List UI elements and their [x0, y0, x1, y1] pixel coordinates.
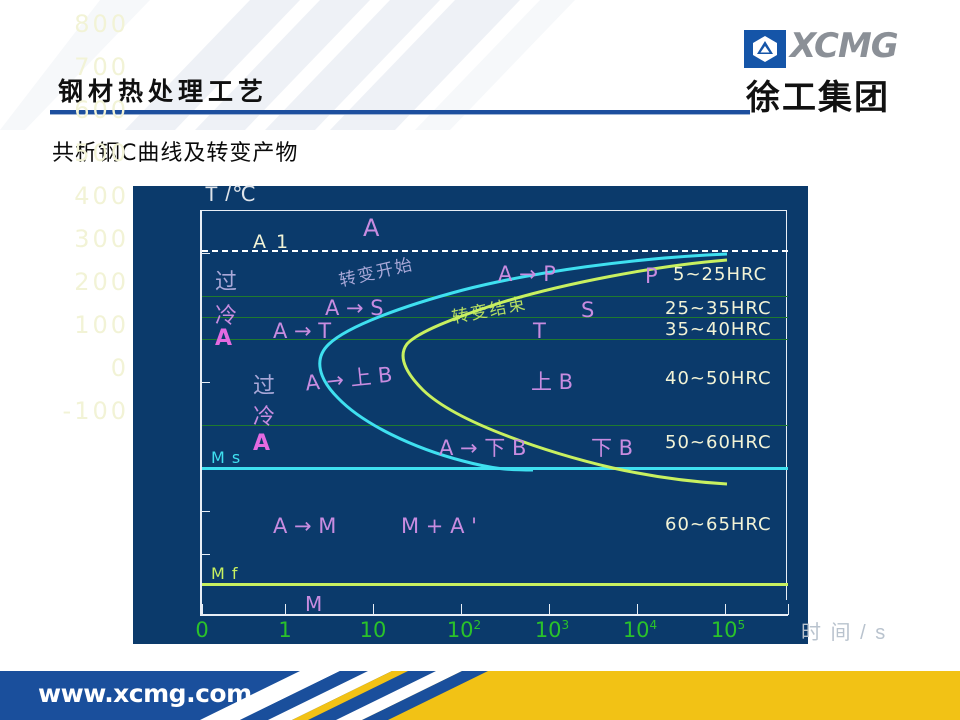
- region-label-A-to-S: A → S: [325, 296, 384, 320]
- hardness-label-25-35: 25~35HRC: [665, 298, 772, 319]
- hardness-label-40-50: 40~50HRC: [665, 368, 772, 389]
- y-tick-0: [200, 554, 210, 555]
- y-tick-label-500: 500: [74, 139, 129, 167]
- x-tick-label-1e2: 102: [447, 618, 481, 642]
- y-tick-label-600: 600: [74, 96, 129, 124]
- logo-mg: MG: [838, 26, 898, 66]
- y-tick-100: [200, 511, 210, 512]
- x-tick-1e3: [549, 604, 550, 615]
- y-tick-label-100: 100: [74, 311, 129, 339]
- x-tick-1e2: [461, 604, 462, 615]
- region-label-A-to-T: A → T: [273, 319, 331, 343]
- logo-chinese-name: 徐工集团: [746, 70, 890, 119]
- region-label-A-to-P: A → P: [498, 262, 556, 286]
- x-tick-end: [788, 604, 789, 615]
- mf-line: [202, 583, 788, 586]
- y-tick-label-300: 300: [74, 225, 129, 253]
- region-label-guoleng2-leng: 冷: [253, 399, 275, 431]
- region-label-guoleng1-A: A: [215, 326, 232, 351]
- region-label-A-to-lower-B: A → 下 B: [439, 432, 526, 462]
- region-label-A-to-M: A → M: [273, 514, 336, 538]
- a1-label: A 1: [253, 231, 290, 253]
- region-label-M: M: [305, 592, 322, 616]
- slide-footer: www.xcmg.com: [0, 665, 960, 720]
- region-divider-350: [202, 425, 788, 426]
- x-tick-label-1e4: 104: [623, 618, 657, 642]
- title-underline-light: [50, 114, 750, 115]
- region-label-guoleng2-A: A: [253, 431, 270, 456]
- y-tick-label--100: -100: [63, 397, 129, 425]
- hardness-label-60-65: 60~65HRC: [665, 514, 772, 535]
- y-tick-700: [200, 253, 210, 254]
- x-axis-line: [200, 614, 788, 616]
- x-tick-label-1e5: 105: [711, 618, 745, 642]
- y-axis-title: T /℃: [205, 182, 257, 207]
- product-label-lower-B: 下 B: [591, 432, 633, 462]
- hardness-label-35-40: 35~40HRC: [665, 319, 772, 340]
- x-tick-1e4: [637, 604, 638, 615]
- x-tick-label-1e3: 103: [535, 618, 569, 642]
- hexagon-triangle-icon: [750, 34, 780, 64]
- x-tick-10: [373, 604, 374, 615]
- hardness-label-5-25: 5~25HRC: [673, 264, 767, 285]
- xcmg-logo: XCMG 徐工集团: [738, 28, 928, 116]
- x-tick-0: [202, 604, 203, 615]
- y-tick-label-200: 200: [74, 268, 129, 296]
- y-tick-400: [200, 382, 210, 383]
- y-tick-label-700: 700: [74, 53, 129, 81]
- product-label-P: P: [645, 264, 658, 288]
- logo-wordmark: XCMG: [790, 26, 898, 66]
- product-label-T: T: [533, 319, 546, 343]
- x-axis-title: 时 间 / s: [801, 616, 887, 645]
- ttt-diagram-panel: T /℃ -100 0 100 200 300 400 500 600 700 …: [133, 186, 808, 644]
- region-label-guoleng1-guo: 过: [215, 264, 237, 296]
- x-tick-1e5: [725, 604, 726, 615]
- logo-xc: XC: [790, 26, 838, 66]
- ms-line: [202, 467, 788, 470]
- hardness-label-50-60: 50~60HRC: [665, 432, 772, 453]
- mf-label: M f: [211, 564, 239, 583]
- x-tick-label-0: 0: [195, 618, 208, 642]
- ms-label: M s: [211, 448, 241, 467]
- product-label-S: S: [581, 298, 594, 322]
- x-tick-1: [285, 604, 286, 615]
- y-tick-label-800: 800: [74, 10, 129, 38]
- footer-website-url[interactable]: www.xcmg.com: [38, 679, 252, 708]
- region-label-M-plus-A: M + A ': [401, 514, 477, 538]
- region-label-guoleng2-guo: 过: [253, 368, 275, 400]
- y-tick-label-400: 400: [74, 182, 129, 210]
- x-tick-label-1: 1: [278, 618, 291, 642]
- product-label-upper-B: 上 B: [531, 366, 573, 396]
- y-tick-label-0: 0: [111, 354, 129, 382]
- x-tick-label-10: 10: [360, 618, 387, 642]
- region-label-A-top: A: [363, 214, 379, 242]
